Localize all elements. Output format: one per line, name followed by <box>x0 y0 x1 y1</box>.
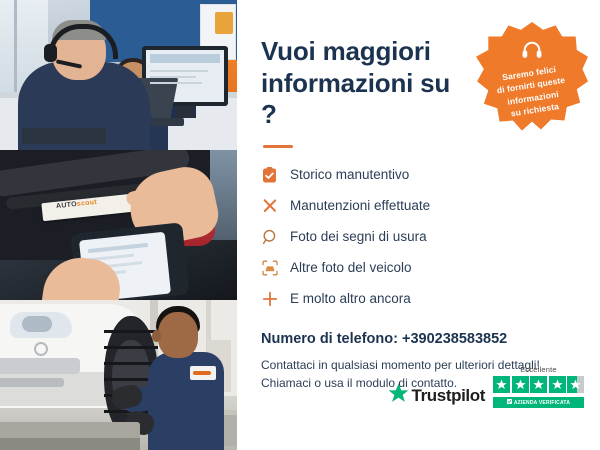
magnifier-icon <box>261 228 278 245</box>
photo-call-center <box>0 0 237 150</box>
car-lift-base-decor <box>0 438 140 450</box>
list-item: Storico manutentivo <box>261 164 578 185</box>
headset-icon <box>521 40 543 65</box>
monitor-stand-decor <box>176 106 194 118</box>
star-filled-icon <box>493 376 510 393</box>
list-item-label: Altre foto del veicolo <box>290 261 412 275</box>
mechanic-ear-decor <box>152 330 161 342</box>
list-item: Foto dei segni di usura <box>261 226 578 247</box>
photo-label-vehicle: AUTOscout <box>0 150 237 300</box>
advertisement-banner: AUTOscout <box>0 0 600 450</box>
star-filled-icon <box>512 376 529 393</box>
trustpilot-stars <box>493 376 584 393</box>
scan-frame-car-icon <box>261 259 278 276</box>
mechanic-head-decor <box>158 312 198 358</box>
trustpilot-rating-block: Eccellente <box>493 365 584 408</box>
photo-mechanic-tire <box>0 300 237 450</box>
clipboard-check-icon <box>261 166 278 183</box>
feature-list: Storico manutentivo Manutenzioni effettu… <box>261 164 578 309</box>
list-item: E molto altro ancora <box>261 288 578 309</box>
list-item: Altre foto del veicolo <box>261 257 578 278</box>
star-partial-icon <box>567 376 584 393</box>
wrench-tools-icon <box>261 197 278 214</box>
callout-badge: Saremo felici di fornirti queste informa… <box>476 22 588 134</box>
trustpilot-brand: Trustpilot <box>388 383 485 408</box>
trustpilot-widget[interactable]: Trustpilot Eccellente <box>388 365 584 408</box>
headset-earpad-decor <box>44 44 57 62</box>
list-item-label: Manutenzioni effettuate <box>290 199 430 213</box>
title-divider <box>263 145 293 148</box>
page-title: Vuoi maggiori informazioni su ? <box>261 36 471 131</box>
uniform-logo-decor <box>190 366 216 380</box>
headlight-inner-decor <box>22 316 52 332</box>
verified-business-label: AZIENDA VERIFICATA <box>514 400 570 406</box>
trustpilot-star-icon <box>388 383 409 408</box>
star-filled-icon <box>530 376 547 393</box>
monitor-screen-line <box>150 76 196 78</box>
list-item-label: Storico manutentivo <box>290 168 409 182</box>
car-grill-lower-decor <box>0 378 64 387</box>
list-item: Manutenzioni effettuate <box>261 195 578 216</box>
monitor-screen-line <box>150 70 208 72</box>
list-item-label: Foto dei segni di usura <box>290 230 427 244</box>
photo-column: AUTOscout <box>0 0 237 450</box>
phone-number[interactable]: Numero di telefono: +390238583852 <box>261 331 578 347</box>
list-item-label: E molto altro ancora <box>290 292 411 306</box>
star-filled-icon <box>549 376 566 393</box>
verified-check-icon <box>507 399 512 406</box>
content-panel: Vuoi maggiori informazioni su ? Saremo f… <box>237 0 600 450</box>
monitor-screen-bar <box>150 54 220 63</box>
tire-tread-decor <box>104 330 158 333</box>
poster-accent-decor <box>215 12 233 34</box>
plus-icon <box>261 290 278 307</box>
keyboard-decor <box>22 128 106 144</box>
badge-text: Saremo felici di fornirti queste informa… <box>488 61 577 122</box>
car-grill-decor <box>0 358 80 374</box>
verified-business-badge: AZIENDA VERIFICATA <box>493 397 584 408</box>
monitor-screen-line <box>150 82 202 84</box>
tire-tread-decor <box>104 346 158 349</box>
trustpilot-name: Trustpilot <box>412 386 485 406</box>
car-badge-decor <box>34 342 48 356</box>
trustpilot-rating-label: Eccellente <box>520 365 557 374</box>
